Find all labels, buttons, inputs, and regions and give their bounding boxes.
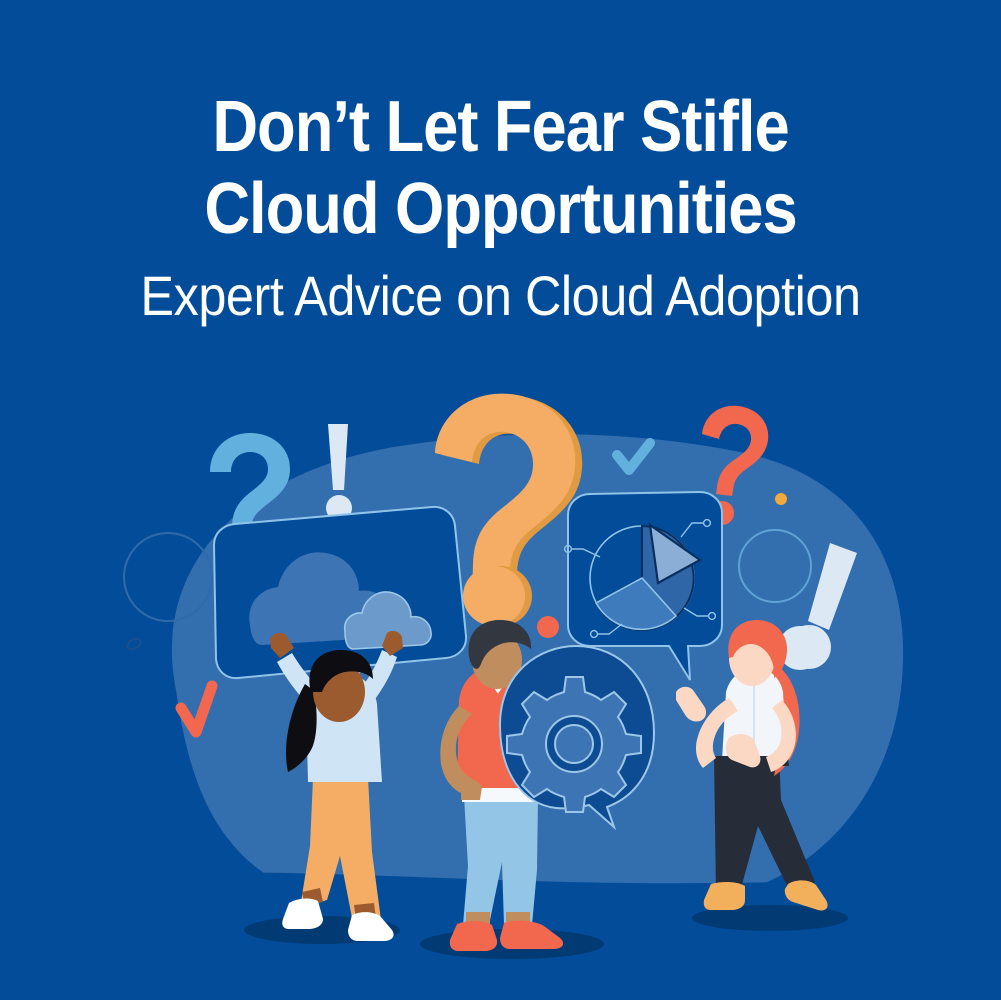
dot-orange-icon (775, 493, 787, 505)
person-2-shoe-left (450, 921, 497, 951)
poster-canvas: Don’t Let Fear Stifle Cloud Opportunitie… (0, 0, 1001, 1000)
headline-block: Don’t Let Fear Stifle Cloud Opportunitie… (0, 86, 1001, 332)
headline-line-2: Cloud Opportunities (60, 168, 941, 250)
headline-line-1: Don’t Let Fear Stifle (60, 86, 941, 168)
dot-coral-icon (537, 616, 559, 638)
subheadline: Expert Advice on Cloud Adoption (50, 260, 951, 332)
